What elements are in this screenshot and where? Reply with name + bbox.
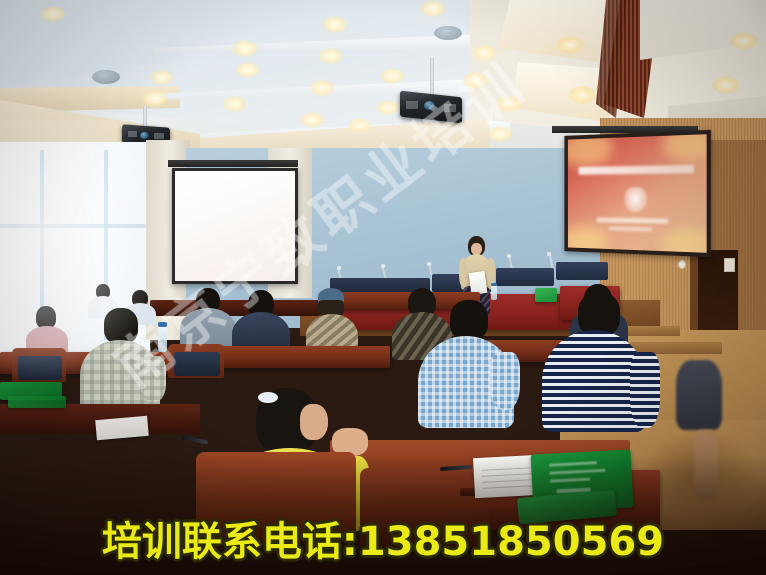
lecture-hall-photo: 南京宁致职业培训 培训联系电话:13851850569	[0, 0, 766, 575]
wall-sensor	[678, 260, 686, 269]
green-folder-left-2	[8, 396, 66, 408]
chair-seat	[18, 356, 62, 380]
downlight-icon	[150, 70, 174, 85]
slide-title-line	[578, 165, 694, 175]
screen-right-housing	[552, 126, 698, 133]
downlight-icon	[496, 96, 521, 112]
projection-screen-left	[172, 168, 298, 284]
downlight-icon	[300, 112, 325, 128]
water-bottle-stage	[491, 285, 497, 300]
downlight-icon	[40, 6, 66, 22]
downlight-icon	[420, 0, 446, 17]
papers-left-desk	[95, 416, 149, 440]
podium-top-panel	[556, 262, 608, 280]
projection-screen-right	[564, 130, 710, 257]
green-bag-stage	[535, 288, 557, 302]
wall-switch-plate[interactable]	[724, 258, 735, 272]
downlight-icon	[348, 118, 372, 133]
hair-clip	[258, 392, 278, 403]
downlight-icon	[380, 68, 405, 84]
downlight-icon	[712, 76, 740, 94]
screen-left-housing	[168, 160, 298, 167]
ceiling-speaker-icon	[92, 70, 120, 84]
downlight-icon	[310, 80, 335, 96]
chair-back-front-right	[360, 468, 490, 548]
downlight-icon	[568, 86, 596, 104]
downlight-icon	[462, 72, 488, 89]
desk-row-back	[150, 300, 320, 316]
slide-subtitle-line-2	[608, 227, 652, 232]
ceiling-speaker-icon	[434, 26, 462, 40]
water-bottle-mid	[158, 326, 167, 352]
downlight-icon	[232, 40, 258, 57]
downlight-icon	[222, 96, 247, 112]
projector-lens-icon	[140, 132, 149, 139]
downlight-icon	[472, 45, 497, 61]
downlight-icon	[318, 48, 343, 64]
podium-top-panel	[496, 268, 554, 286]
slide-subtitle-line	[596, 218, 668, 224]
downlight-icon	[730, 32, 758, 50]
downlight-icon	[142, 90, 168, 107]
slide-logo-icon	[624, 187, 646, 212]
chair-seat	[174, 352, 220, 376]
projector-lens-icon	[424, 101, 435, 110]
downlight-icon	[376, 100, 400, 115]
downlight-icon	[236, 62, 260, 78]
desk-row-mid-center	[210, 346, 390, 368]
downlight-icon	[556, 36, 584, 54]
pen-foreground-left[interactable]	[182, 435, 208, 444]
downlight-icon	[322, 16, 348, 33]
downlight-icon	[488, 126, 513, 142]
chair-back-front	[196, 452, 356, 542]
